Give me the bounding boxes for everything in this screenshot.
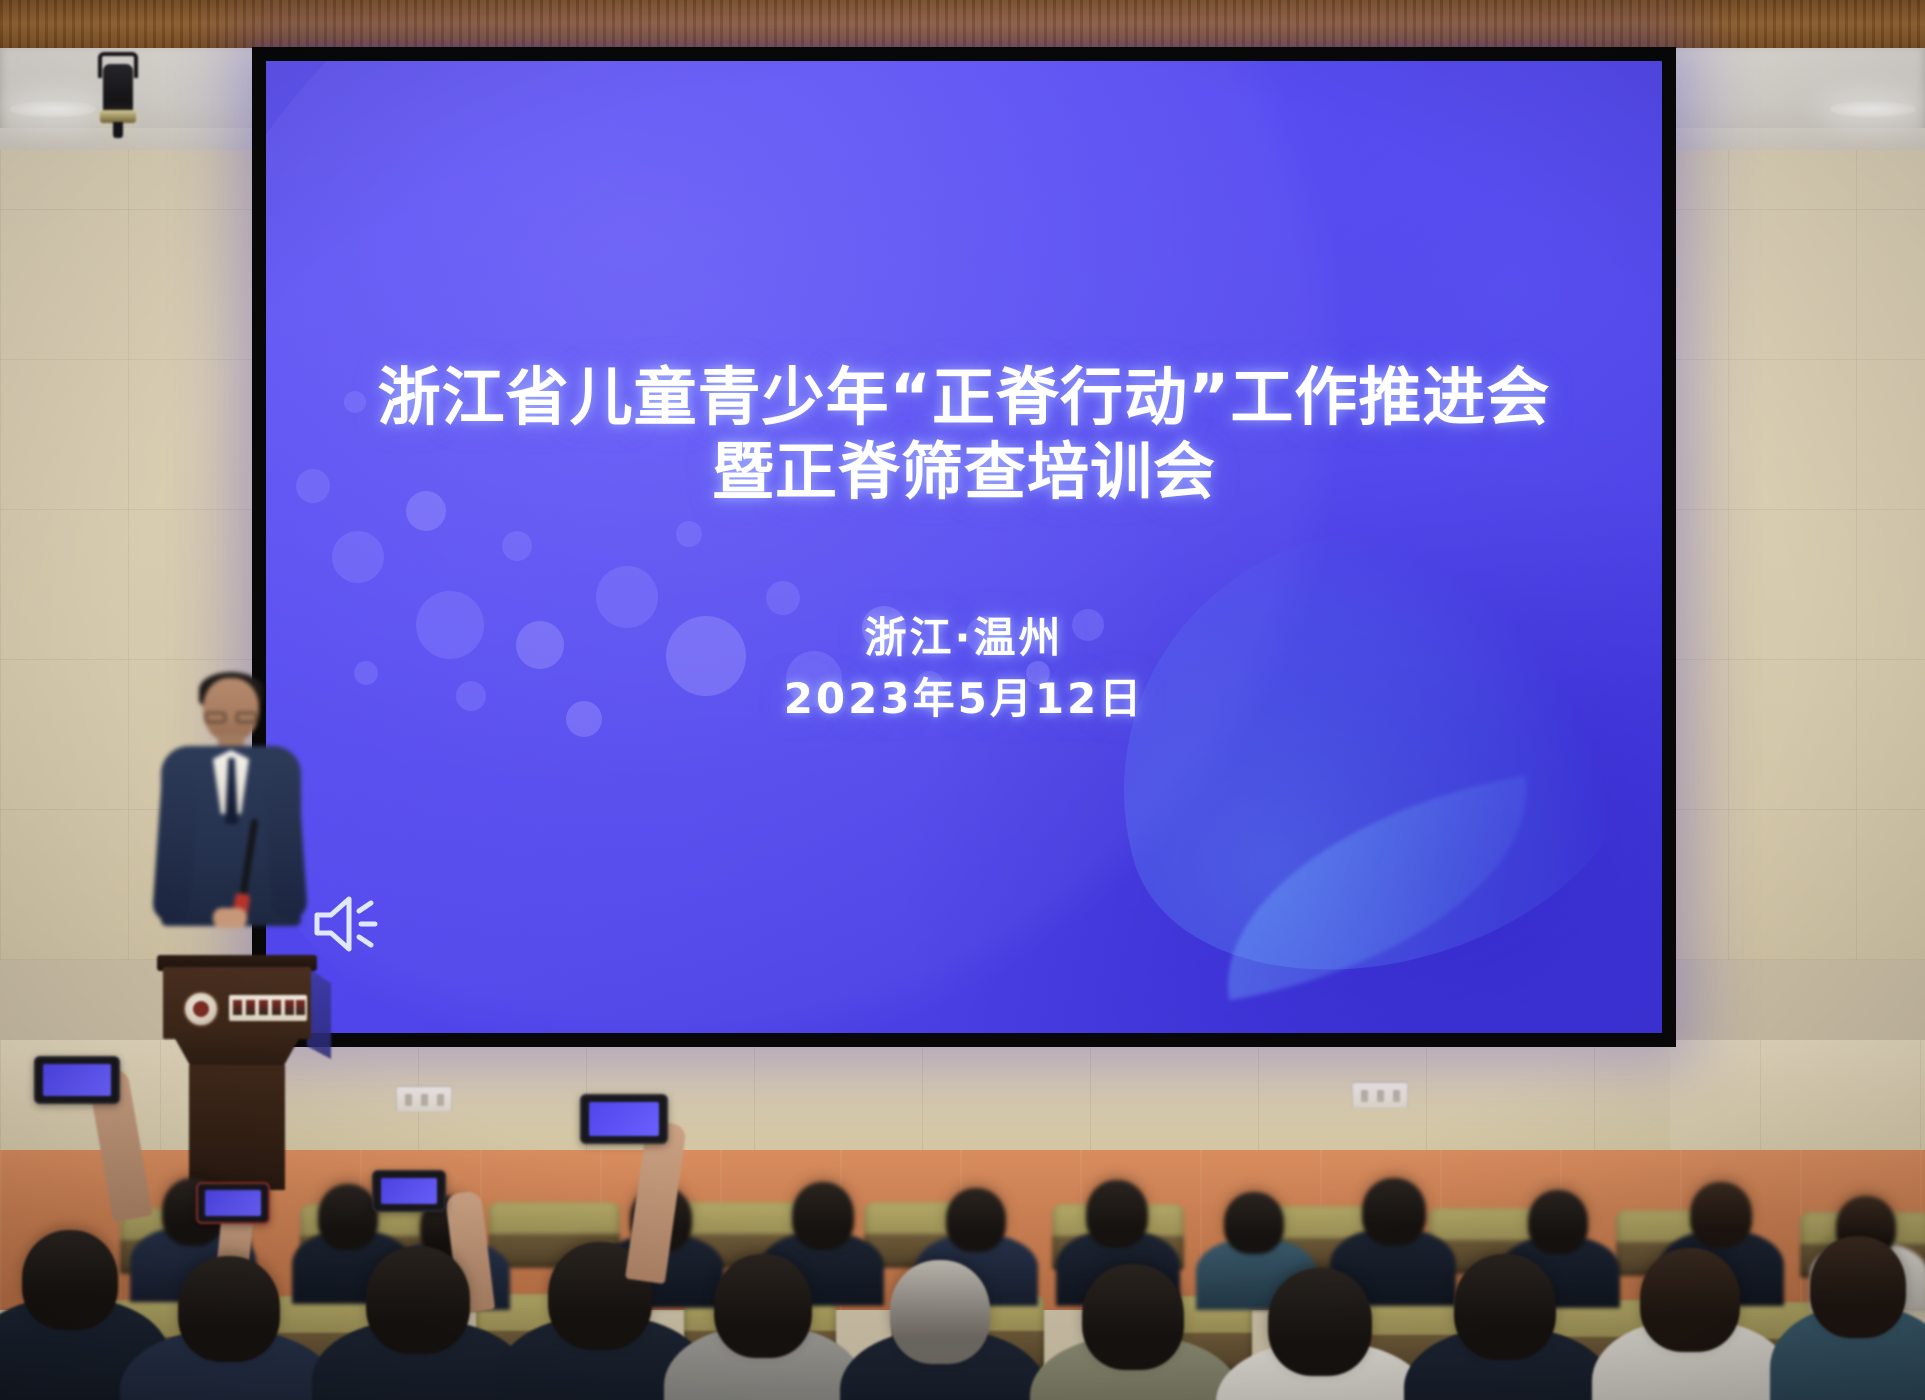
presenter-head <box>203 678 259 742</box>
attendee-head <box>366 1246 470 1354</box>
attendee-head <box>946 1188 1006 1252</box>
led-screen: 浙江省儿童青少年“正脊行动”工作推进会 暨正脊筛查培训会 浙江·温州 2023年… <box>266 61 1662 1033</box>
presenter-glasses <box>205 712 257 723</box>
stage-spotlight <box>96 52 140 136</box>
slide-title: 浙江省儿童青少年“正脊行动”工作推进会 暨正脊筛查培训会 <box>378 361 1551 508</box>
audience <box>0 1130 1925 1400</box>
conference-photo-scene: 浙江省儿童青少年“正脊行动”工作推进会 暨正脊筛查培训会 浙江·温州 2023年… <box>0 0 1925 1400</box>
attendee-head <box>318 1184 378 1250</box>
attendee-head <box>1082 1264 1184 1370</box>
attendee-head <box>22 1230 118 1330</box>
slide-date: 2023年5月12日 <box>784 669 1145 730</box>
slide-location: 浙江·温州 <box>784 608 1145 669</box>
smartphone <box>196 1182 270 1224</box>
podium-front-face <box>163 967 311 1039</box>
attendee-head <box>1528 1190 1588 1254</box>
speaker-volume-icon <box>311 891 381 957</box>
smartphone <box>580 1094 668 1144</box>
attendee-head <box>792 1182 854 1250</box>
podium-nameplate <box>229 995 307 1021</box>
attendee-head <box>890 1260 990 1364</box>
attendee-head <box>714 1254 812 1358</box>
slide-title-line-2: 暨正脊筛查培训会 <box>378 435 1551 508</box>
smartphone <box>34 1056 120 1104</box>
ceiling-light <box>10 100 96 118</box>
led-screen-frame: 浙江省儿童青少年“正脊行动”工作推进会 暨正脊筛查培训会 浙江·温州 2023年… <box>252 47 1676 1047</box>
wall-outlet <box>396 1086 452 1112</box>
attendee-head <box>1086 1180 1148 1248</box>
attendee-head <box>1690 1182 1752 1248</box>
podium-skirt <box>173 1035 301 1067</box>
presenter <box>155 668 305 968</box>
slide-title-line-1: 浙江省儿童青少年“正脊行动”工作推进会 <box>378 361 1551 435</box>
attendee-head <box>1268 1268 1372 1376</box>
smartphone <box>372 1170 446 1212</box>
ceiling-light <box>1830 100 1916 118</box>
slide-content: 浙江省儿童青少年“正脊行动”工作推进会 暨正脊筛查培训会 浙江·温州 2023年… <box>266 61 1662 1033</box>
slide-subtitle: 浙江·温州 2023年5月12日 <box>784 608 1145 730</box>
ceiling-wood-panel <box>0 0 1925 52</box>
presenter-hand <box>213 908 247 928</box>
attendee-head <box>1454 1254 1556 1360</box>
podium-emblem-icon <box>183 991 219 1027</box>
attendee-head <box>178 1256 280 1362</box>
attendee-head <box>1810 1236 1906 1338</box>
attendee-head <box>1224 1192 1284 1254</box>
attendee-head <box>1640 1248 1740 1352</box>
wall-outlet <box>1352 1082 1408 1108</box>
attendee-head <box>1362 1178 1426 1246</box>
